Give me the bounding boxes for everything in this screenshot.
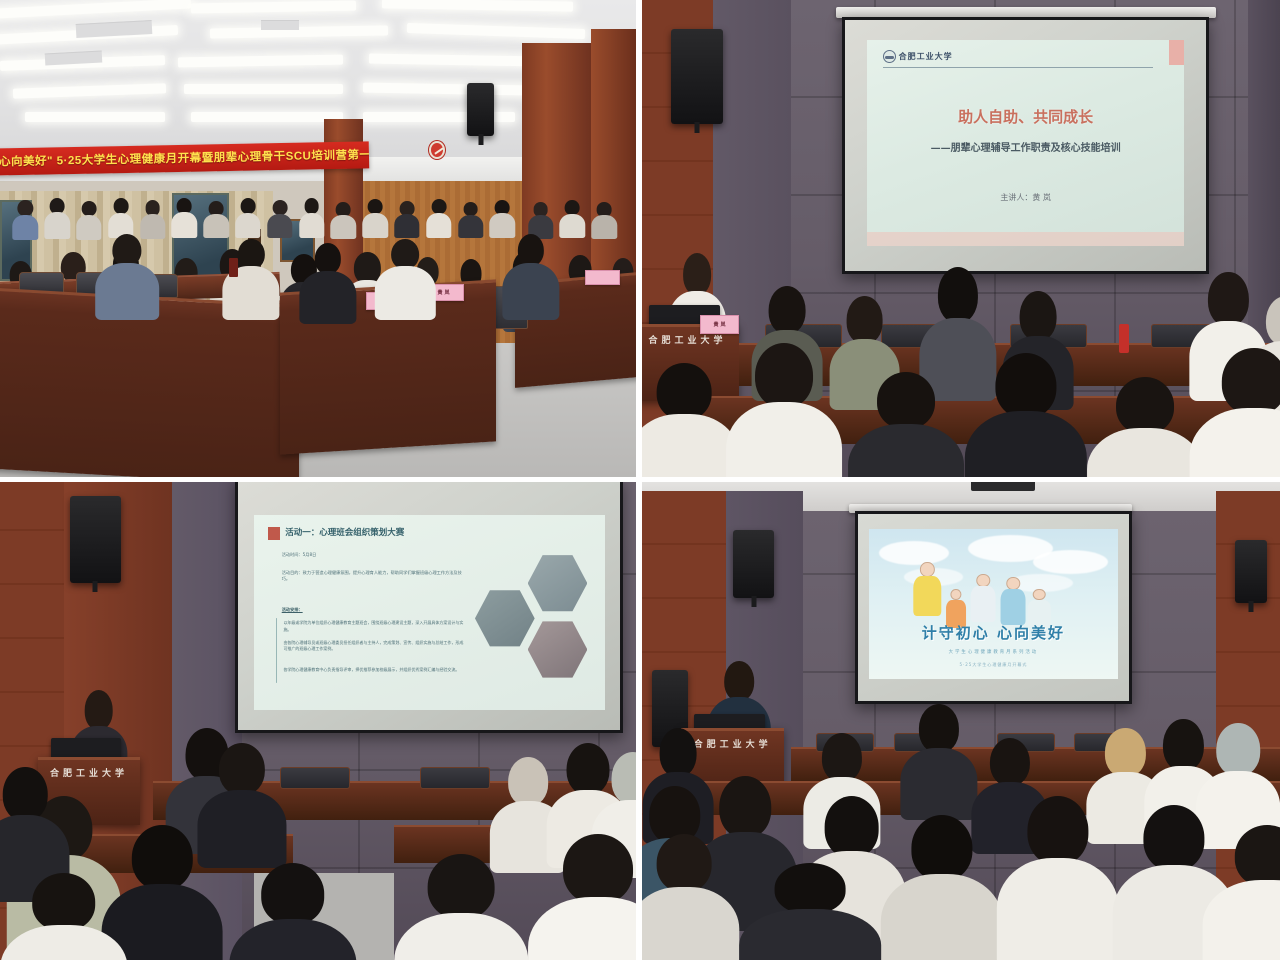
slide-photo-hex-3 [528,620,588,678]
logo-seal-icon [883,50,896,63]
slide-body-1: 以年级或学院为单位组织心理健康教育主题班会，围绕班级心理建设主题，深入开展具体方… [283,620,466,633]
wall-speaker [70,496,121,583]
slide-bullet-2: 活动目的：致力于营造心理健康氛围，提升心理育人能力，帮助同学们掌握班级心理工作方… [282,570,465,583]
water-bottle [1119,324,1129,353]
audience-person-front [0,873,127,960]
audience-person-front [964,353,1086,477]
slide-presenter: 主讲人：黄 岚 [867,192,1185,203]
placard-text: 黄 岚 [437,289,449,296]
audience-person-front [1203,825,1280,960]
wall-speaker [467,83,494,135]
character-figure [971,574,996,622]
placard-text: 黄 岚 [714,321,726,328]
front-row-person [502,234,559,320]
audience-person-front [1190,348,1280,477]
banner-text: 初心、心向美好" 5·25大学生心理健康月开幕暨朋辈心理骨干SCU培训营第一场 [0,147,369,171]
name-placard [585,270,620,285]
character-figure [914,562,941,616]
panel-top-right: 合肥工业大学 助人自助、共同成长 ——朋辈心理辅导工作职责及核心技能培训 主讲人… [636,0,1280,477]
panel-top-left: 初心、心向美好" 5·25大学生心理健康月开幕暨朋辈心理骨干SCU培训营第一场 [0,0,636,477]
water-bottle [229,258,239,277]
photo-collage: 初心、心向美好" 5·25大学生心理健康月开幕暨朋辈心理骨干SCU培训营第一场 [0,0,1280,960]
front-row-person [223,239,280,320]
poster-artwork: 计守初心 心向美好 大学生心理健康教育月系列活动 5·25大学生心理健康月开幕式 [869,529,1118,679]
university-logo: 合肥工业大学 [883,50,953,63]
poster-title: 计守初心 心向美好 [869,622,1118,643]
slide-photo-hex-2 [528,554,588,612]
slide-body-2: 由各院心理辅导员或班级心理委员担任组织者与主持人，完成策划、宣传、组织实施与总结… [283,640,466,653]
ceiling-light [25,112,165,122]
slide-photo-hex-1 [475,589,535,647]
no-smoking-icon [429,141,445,159]
audience-person [900,704,977,820]
name-placard: 黄 岚 [700,315,739,334]
audience-person-front [726,343,842,477]
slide-body-3: 各学院心理健康教育中心负责指导评审，择优推荐参加校级展示，并组织优秀案例汇编与经… [283,667,466,673]
projection-screen: 活动一：心理班会组织策划大赛 活动时间：5月8日 活动目的：致力于营造心理健康氛… [235,477,623,733]
projection-screen: 合肥工业大学 助人自助、共同成长 ——朋辈心理辅导工作职责及核心技能培训 主讲人… [842,17,1209,275]
slide-corner-accent [1169,40,1185,65]
title-slide: 合肥工业大学 助人自助、共同成长 ——朋辈心理辅导工作职责及核心技能培训 主讲人… [867,40,1185,246]
front-row-person [299,243,356,324]
audience-person-front [881,815,1003,960]
content-slide: 活动一：心理班会组织策划大赛 活动时间：5月8日 活动目的：致力于营造心理健康氛… [254,515,605,710]
ceiling-light [191,112,344,122]
projection-screen: 计守初心 心向美好 大学生心理健康教育月系列活动 5·25大学生心理健康月开幕式 [855,511,1132,704]
slide-title: 活动一：心理班会组织策划大赛 [285,526,404,538]
panel-bottom-right: 计守初心 心向美好 大学生心理健康教育月系列活动 5·25大学生心理健康月开幕式… [636,477,1280,960]
front-row-person [375,239,435,320]
audience-person-front [849,372,965,477]
slide-body-rule [276,618,277,682]
ceiling-light [184,84,343,94]
audience-person-front [997,796,1119,960]
bench-back [420,767,490,789]
logo-cn-text: 合肥工业大学 [899,51,953,62]
cloud-shape [1033,550,1108,574]
panel-bottom-left: 活动一：心理班会组织策划大赛 活动时间：5月8日 活动目的：致力于营造心理健康氛… [0,477,636,960]
audience-person-front [1087,377,1203,477]
ceiling-vent [261,20,299,30]
front-row-person [95,234,159,320]
slide-bullet-1: 活动时间：5月8日 [282,552,317,558]
slide-footer-band [867,232,1185,246]
character-figure [1001,577,1026,625]
wall-speaker [733,530,775,598]
poster-subtitle: 大学生心理健康教育月系列活动 [869,649,1118,655]
audience-person-front [394,854,528,960]
slide-title: 助人自助、共同成长 [867,106,1185,127]
podium-text: 合肥工业大学 [649,333,727,346]
wall-speaker [1235,540,1267,603]
collage-divider-horizontal [0,477,1280,482]
slide-section-label: 活动安排： [282,607,303,613]
audience-person-front [636,834,739,960]
slide-header-rule [883,67,1153,68]
slide-title-accent [268,527,280,541]
audience-person-front [739,863,881,960]
poster-footer: 5·25大学生心理健康月开幕式 [869,662,1118,668]
wall-speaker [671,29,723,124]
slide-subtitle: ——朋辈心理辅导工作职责及核心技能培训 [867,139,1185,154]
audience-person-front [636,363,739,477]
audience-person-front [229,863,356,960]
bench-back [280,767,350,789]
poster-slide: 计守初心 心向美好 大学生心理健康教育月系列活动 5·25大学生心理健康月开幕式 [869,529,1118,679]
audience-person-front [528,834,636,960]
